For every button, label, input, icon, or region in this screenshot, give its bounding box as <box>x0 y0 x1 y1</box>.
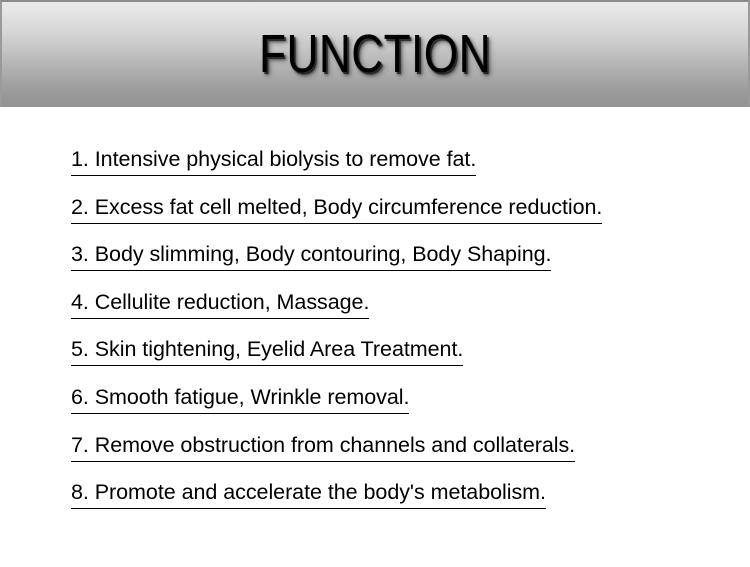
header-band: FUNCTION <box>0 0 750 107</box>
list-item-label: 7. Remove obstruction from channels and … <box>71 432 575 462</box>
list-item: 4. Cellulite reduction, Massage. <box>71 289 731 337</box>
list-item: 5. Skin tightening, Eyelid Area Treatmen… <box>71 336 731 384</box>
list-item-label: 8. Promote and accelerate the body's met… <box>71 479 546 509</box>
list-item-label: 5. Skin tightening, Eyelid Area Treatmen… <box>71 336 463 366</box>
list-item-label: 4. Cellulite reduction, Massage. <box>71 289 369 319</box>
list-item: 8. Promote and accelerate the body's met… <box>71 479 731 527</box>
function-list: 1. Intensive physical biolysis to remove… <box>71 146 731 527</box>
list-item: 7. Remove obstruction from channels and … <box>71 432 731 480</box>
list-item: 1. Intensive physical biolysis to remove… <box>71 146 731 194</box>
list-item-label: 3. Body slimming, Body contouring, Body … <box>71 241 551 271</box>
slide-canvas: FUNCTION 1. Intensive physical biolysis … <box>0 0 750 567</box>
list-item: 3. Body slimming, Body contouring, Body … <box>71 241 731 289</box>
page-title: FUNCTION <box>69 2 681 107</box>
list-item-label: 2. Excess fat cell melted, Body circumfe… <box>71 194 602 224</box>
list-item-label: 1. Intensive physical biolysis to remove… <box>71 146 476 176</box>
list-item: 6. Smooth fatigue, Wrinkle removal. <box>71 384 731 432</box>
list-item-label: 6. Smooth fatigue, Wrinkle removal. <box>71 384 409 414</box>
list-item: 2. Excess fat cell melted, Body circumfe… <box>71 194 731 242</box>
